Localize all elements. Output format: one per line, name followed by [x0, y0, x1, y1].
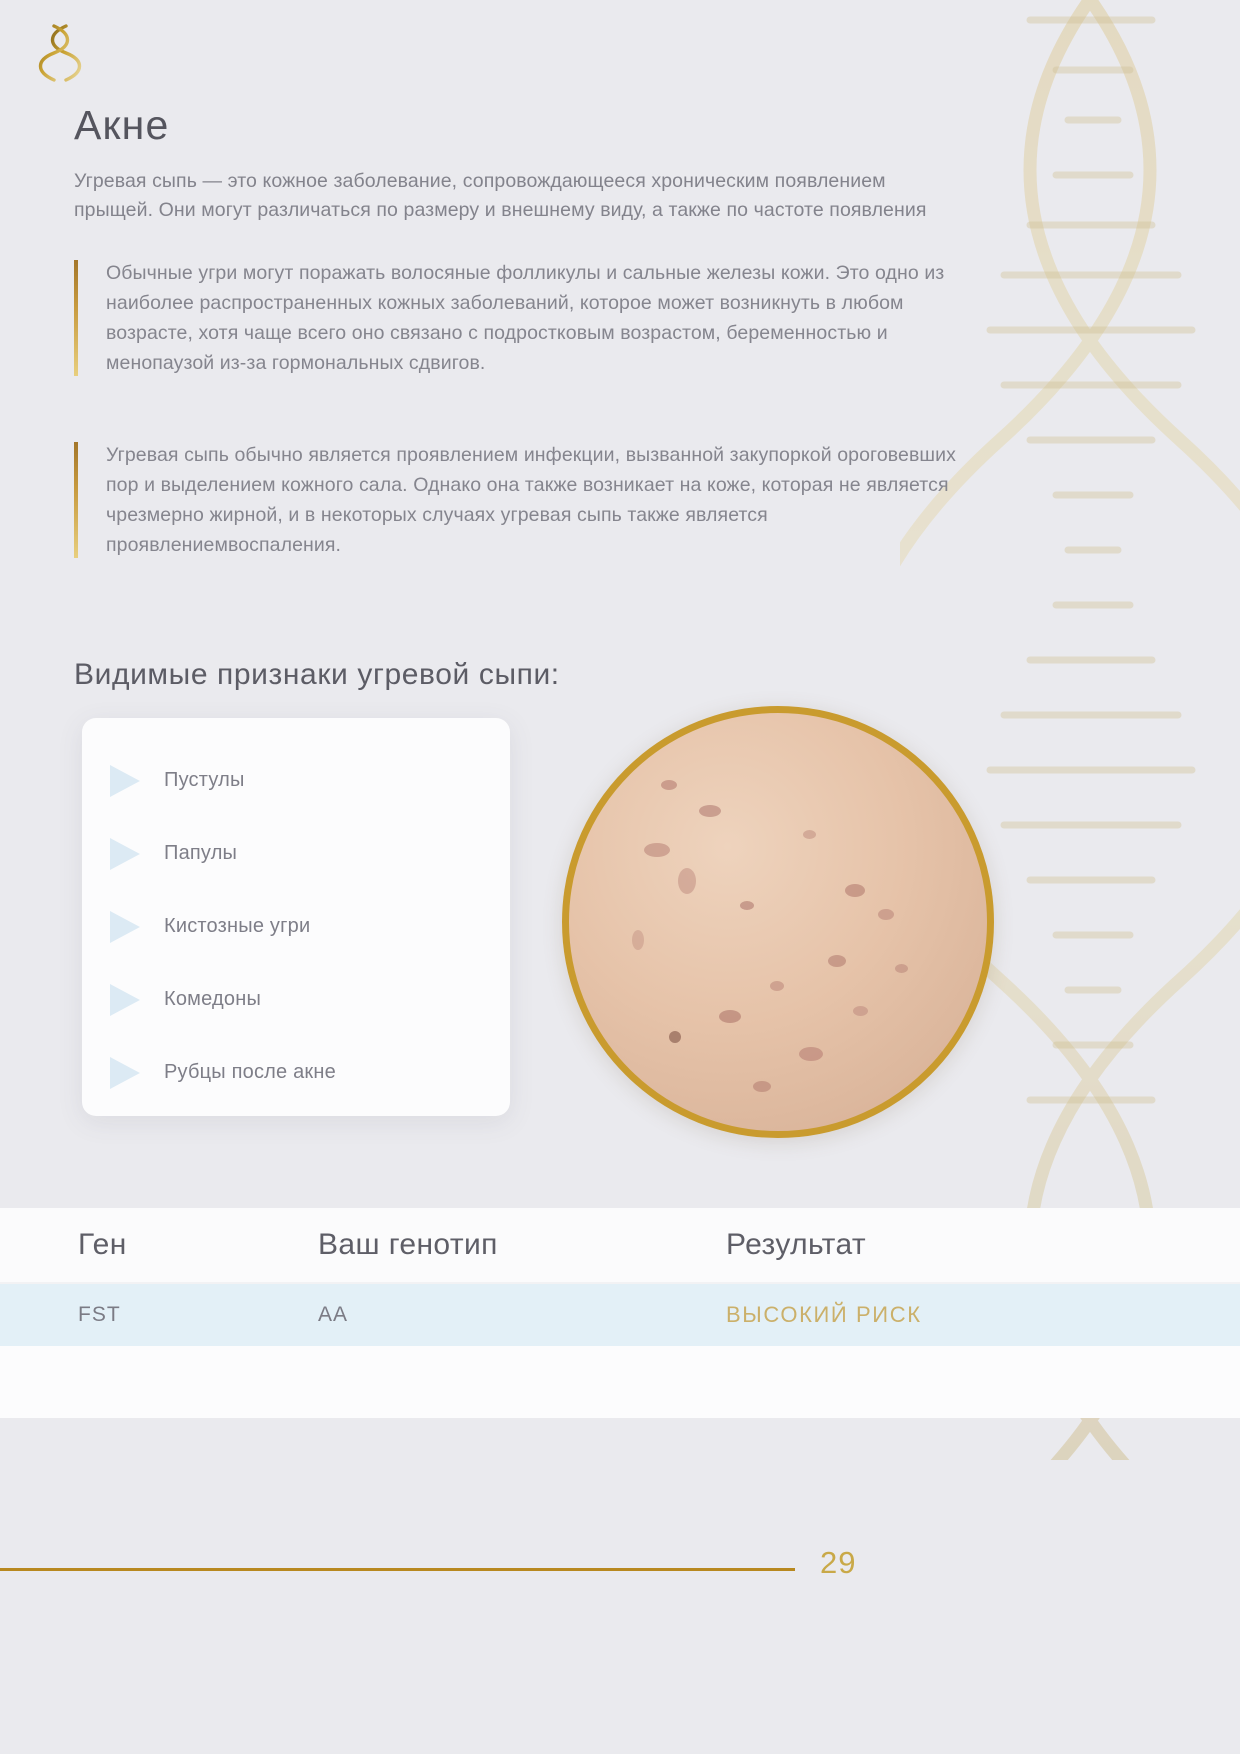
list-item: Комедоны	[82, 963, 510, 1036]
table-header-row: Ген Ваш генотип Результат	[0, 1208, 1240, 1282]
triangle-right-icon	[110, 984, 140, 1016]
sign-label: Папулы	[164, 842, 237, 865]
triangle-right-icon	[110, 911, 140, 943]
table-row: FST AA ВЫСОКИЙ РИСК	[0, 1284, 1240, 1346]
sign-label: Комедоны	[164, 988, 261, 1011]
cell-genotype: AA	[318, 1303, 726, 1327]
page-title: Акне	[74, 103, 170, 148]
intro-paragraph: Угревая сыпь — это кожное заболевание, с…	[74, 167, 954, 226]
sign-label: Кистозные угри	[164, 915, 310, 938]
sign-label: Рубцы после акне	[164, 1061, 336, 1084]
acne-skin-photo	[562, 706, 994, 1138]
visible-signs-card: Пустулы Папулы Кистозные угри Комедоны Р…	[82, 718, 510, 1116]
quote-text-1: Обычные угри могут поражать волосяные фо…	[106, 258, 976, 378]
triangle-right-icon	[110, 1057, 140, 1089]
triangle-right-icon	[110, 765, 140, 797]
page-number: 29	[820, 1545, 856, 1581]
list-item: Пустулы	[82, 744, 510, 817]
sign-label: Пустулы	[164, 769, 245, 792]
column-header-result: Результат	[726, 1228, 1240, 1262]
report-page: Акне Угревая сыпь — это кожное заболеван…	[0, 0, 1240, 1754]
list-item: Рубцы после акне	[82, 1036, 510, 1109]
table-footer-band	[0, 1346, 1240, 1418]
list-item: Папулы	[82, 817, 510, 890]
column-header-gene: Ген	[0, 1228, 318, 1262]
quote-text-2: Угревая сыпь обычно является проявлением…	[106, 440, 976, 560]
footer-divider	[0, 1568, 795, 1571]
dna-helix-icon	[38, 22, 84, 86]
section-heading-visible-signs: Видимые признаки угревой сыпи:	[74, 658, 560, 692]
genetics-table: Ген Ваш генотип Результат FST AA ВЫСОКИЙ…	[0, 1208, 1240, 1418]
cell-gene: FST	[0, 1303, 318, 1327]
column-header-genotype: Ваш генотип	[318, 1228, 726, 1262]
quote-block-1: Обычные угри могут поражать волосяные фо…	[74, 258, 976, 378]
quote-block-2: Угревая сыпь обычно является проявлением…	[74, 440, 976, 560]
list-item: Кистозные угри	[82, 890, 510, 963]
triangle-right-icon	[110, 838, 140, 870]
status-badge: ВЫСОКИЙ РИСК	[726, 1302, 1240, 1328]
